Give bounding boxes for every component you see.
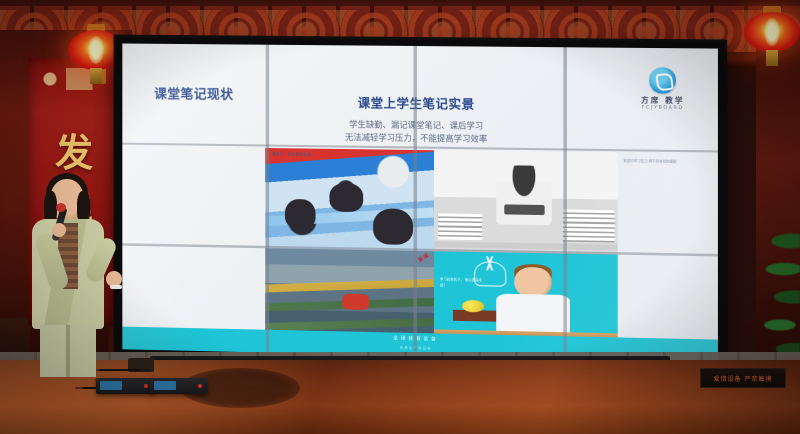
tshirt-print <box>504 204 544 215</box>
slide-title-left: 课堂笔记现状 <box>154 84 233 104</box>
desk-row <box>265 317 434 331</box>
potted-plant <box>740 225 800 365</box>
receiver-led-icon <box>198 384 202 388</box>
desk-row <box>265 278 434 292</box>
receiver-display <box>100 381 122 390</box>
photo-caption: 课堂中，学生疲惫趴桌 <box>272 152 311 158</box>
book-stack-right <box>563 209 615 242</box>
desk-surface <box>434 241 617 250</box>
receiver-display <box>154 381 176 390</box>
receiver-led-icon <box>144 384 148 388</box>
slide-subtitle: 学生缺勤、漏记课堂笔记、课后学习 无法减轻学习压力，不能提高学习效率 <box>262 117 572 147</box>
presenter-hand-left <box>52 223 66 237</box>
photo-classroom-students-sleeping: 课堂中，学生疲惫趴桌 <box>265 148 434 251</box>
photo-classroom-exam-hall: 新闻 <box>265 248 434 339</box>
lantern-tassel <box>766 50 778 66</box>
photo-thinking-boy-teal: 学习效率低下， 难以提高成绩？ <box>434 251 617 343</box>
warning-sign: 爱惜设备 严禁触摸 <box>700 368 786 388</box>
video-wall[interactable]: 课堂笔记现状 课堂上学生笔记实景 学生缺勤、漏记课堂笔记、课后学习 无法减轻学习… <box>117 38 725 370</box>
slide-title-center: 课堂上学生笔记实景 <box>280 91 554 113</box>
book-stack-left <box>438 213 482 240</box>
lantern-glow <box>88 36 104 64</box>
red-lantern-right <box>744 4 800 56</box>
presentation-slide: 课堂笔记现状 课堂上学生笔记实景 学生缺勤、漏记课堂笔记、课后学习 无法减轻学习… <box>122 44 718 363</box>
presenter-speaker <box>6 175 130 375</box>
student-figure <box>496 165 551 225</box>
microphone-head <box>56 203 66 212</box>
student-in-red <box>342 294 369 310</box>
wireless-mic-receiver-2[interactable] <box>150 378 208 394</box>
lantern-glow <box>764 18 780 46</box>
lantern-tassel <box>90 68 102 84</box>
brand-mark-icon <box>649 67 676 94</box>
apple-prop <box>462 300 484 313</box>
tired-student-note: 繁重的学习压力 得不到有效的缓解 <box>623 159 702 165</box>
wireless-mic-receiver-1[interactable] <box>96 378 154 394</box>
subtitle-line-2: 无法减轻学习压力，不能提高学习效率 <box>262 130 572 147</box>
student-figure <box>285 198 315 229</box>
photo-tired-student-bw <box>434 150 617 254</box>
brand-name-cn: 方席 教学 <box>629 94 696 106</box>
student-figure <box>329 183 363 212</box>
banner-character-1: 发 <box>28 122 120 177</box>
auditorium-scene: 发 展 中 课堂笔记现状 课堂上学生笔记实景 学生缺勤、漏记课堂笔记、课后学习 … <box>0 0 800 434</box>
brand-name-en: FCJYBOARD <box>629 105 696 111</box>
photo-caption: 学习效率低下， 难以提高成绩？ <box>440 278 487 289</box>
brand-logo: 方席 教学 FCJYBOARD <box>629 67 696 111</box>
warning-sign-text: 爱惜设备 严禁触摸 <box>714 374 773 383</box>
video-wall-screen[interactable]: 课堂笔记现状 课堂上学生笔记实景 学生缺勤、漏记课堂笔记、课后学习 无法减轻学习… <box>122 44 718 363</box>
news-label: 新闻 <box>418 252 432 264</box>
presenter-wristband <box>110 285 122 289</box>
boy-shirt <box>496 293 569 334</box>
presenter-trousers <box>40 325 96 377</box>
student-figure <box>373 208 414 245</box>
